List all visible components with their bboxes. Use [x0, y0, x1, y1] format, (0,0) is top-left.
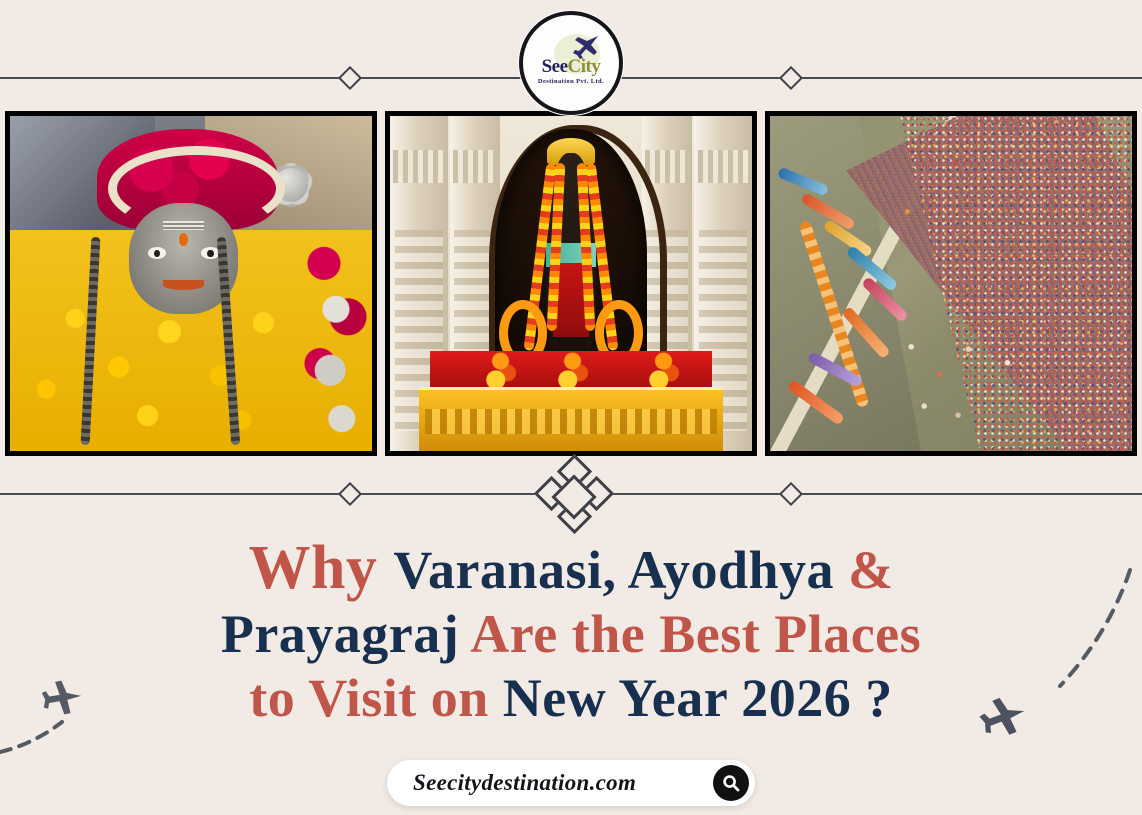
headline-line-3: to Visit on New Year 2026 ? — [0, 666, 1142, 730]
deity-mouth — [163, 280, 204, 290]
logo-word-city: City — [568, 56, 601, 77]
headline-seg-to-visit: to Visit on — [249, 668, 503, 728]
page-title: Why Varanasi, Ayodhya & Prayagraj Are th… — [0, 536, 1142, 730]
divider-diamond-left — [338, 481, 362, 505]
silver-offerings — [307, 277, 365, 438]
diamond-cluster-ornament — [511, 463, 631, 525]
photo-strip — [5, 111, 1137, 456]
headline-seg-prayagraj: Prayagraj — [221, 604, 470, 664]
photo-ayodhya-ram-mandir-idol — [390, 116, 752, 451]
logo-tagline: Destination Pvt. Ltd. — [538, 78, 604, 85]
headline-seg-ampersand: & — [848, 540, 893, 600]
search-button[interactable] — [713, 765, 749, 801]
headline-line-2: Prayagraj Are the Best Places — [0, 602, 1142, 666]
logo-word-see: See — [542, 56, 568, 77]
photo-varanasi-kashi-vishwanath-deity — [10, 116, 372, 451]
photo-frame-prayagraj — [765, 111, 1137, 456]
golden-altar — [419, 387, 723, 451]
bathing-pilgrims — [893, 324, 1023, 438]
bottom-divider — [0, 492, 1142, 495]
divider-diamond-left — [338, 65, 362, 89]
headline-seg-why: Why — [248, 534, 393, 602]
website-url-text: Seecitydestination.com — [413, 770, 636, 796]
divider-diamond-right — [779, 481, 803, 505]
deity-eye-left — [148, 247, 166, 259]
search-icon — [721, 773, 741, 793]
headline-line-1: Why Varanasi, Ayodhya & — [0, 536, 1142, 602]
bindi-mark — [179, 233, 188, 246]
website-url-bar[interactable]: Seecitydestination.com — [387, 760, 755, 806]
divider-diamond-right — [779, 65, 803, 89]
photo-frame-varanasi — [5, 111, 377, 456]
headline-seg-new-year: New Year 2026 ? — [503, 668, 893, 728]
logo-wordmark: SeeCity — [542, 57, 601, 76]
poster-canvas: SeeCity Destination Pvt. Ltd. — [0, 0, 1142, 815]
headline-seg-best-places: Are the Best Places — [470, 604, 921, 664]
brand-logo[interactable]: SeeCity Destination Pvt. Ltd. — [519, 11, 623, 115]
headline-seg-cities: Varanasi, Ayodhya — [393, 540, 848, 600]
tilak-mark — [163, 221, 204, 230]
logo-inner: SeeCity Destination Pvt. Ltd. — [528, 20, 614, 106]
photo-prayagraj-kumbh-mela-aerial — [770, 116, 1132, 451]
photo-frame-ayodhya — [385, 111, 757, 456]
